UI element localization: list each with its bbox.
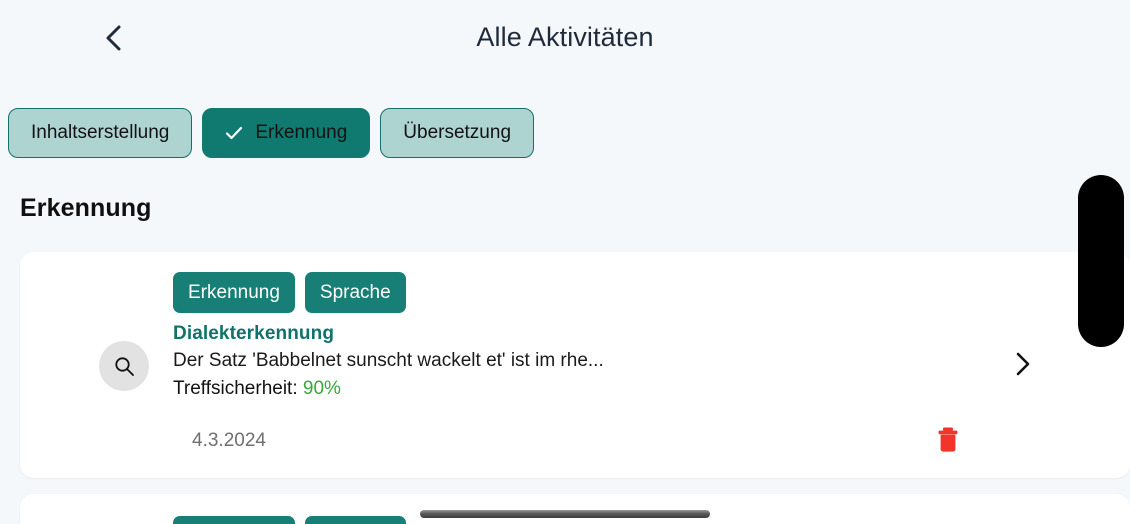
- activity-badges: Erkennung Sprache: [173, 516, 406, 524]
- vertical-scrollbar-thumb[interactable]: [1078, 175, 1124, 347]
- horizontal-scrollbar-thumb[interactable]: [420, 510, 710, 518]
- check-icon: [225, 124, 243, 142]
- activity-open-chevron[interactable]: [1010, 353, 1036, 379]
- header-bar: Alle Aktivitäten: [0, 0, 1130, 76]
- activity-card[interactable]: Erkennung Sprache Dialekterkennung Der S…: [20, 252, 1130, 478]
- activity-description: Der Satz 'Babbelnet sunscht wackelt et' …: [173, 350, 1010, 372]
- activity-badge: Erkennung: [173, 516, 295, 524]
- activity-badge: Sprache: [305, 516, 406, 524]
- filter-chip-inhaltserstellung[interactable]: Inhaltserstellung: [8, 108, 192, 158]
- filter-chip-label: Erkennung: [255, 122, 347, 144]
- activity-card-body: Erkennung Sprache Dialekterkennung Der S…: [173, 272, 1010, 400]
- activity-accuracy: Treffsicherheit: 90%: [173, 378, 1010, 400]
- activity-date: 4.3.2024: [192, 430, 266, 452]
- section-heading: Erkennung: [20, 194, 151, 223]
- page-title: Alle Aktivitäten: [0, 21, 1130, 54]
- filter-chip-group: Inhaltserstellung Erkennung Übersetzung: [8, 108, 534, 158]
- activity-badge: Erkennung: [173, 272, 295, 313]
- magnifier-icon: [99, 341, 149, 391]
- trash-icon: [935, 426, 961, 459]
- activity-list: Erkennung Sprache Dialekterkennung Der S…: [20, 252, 1130, 524]
- delete-activity-button[interactable]: [933, 426, 963, 458]
- filter-chip-label: Inhaltserstellung: [31, 122, 169, 144]
- filter-chip-erkennung[interactable]: Erkennung: [202, 108, 370, 158]
- filter-chip-label: Übersetzung: [403, 122, 511, 144]
- filter-chip-uebersetzung[interactable]: Übersetzung: [380, 108, 534, 158]
- activity-accuracy-label: Treffsicherheit:: [173, 378, 298, 399]
- activities-screen: Alle Aktivitäten Inhaltserstellung Erken…: [0, 0, 1130, 524]
- activity-badge: Sprache: [305, 272, 406, 313]
- activity-badges: Erkennung Sprache: [173, 272, 1010, 313]
- activity-accuracy-value: 90%: [303, 378, 341, 399]
- chevron-right-icon: [1015, 352, 1031, 381]
- activity-card[interactable]: Erkennung Sprache: [20, 494, 1130, 524]
- activity-title: Dialekterkennung: [173, 323, 1010, 345]
